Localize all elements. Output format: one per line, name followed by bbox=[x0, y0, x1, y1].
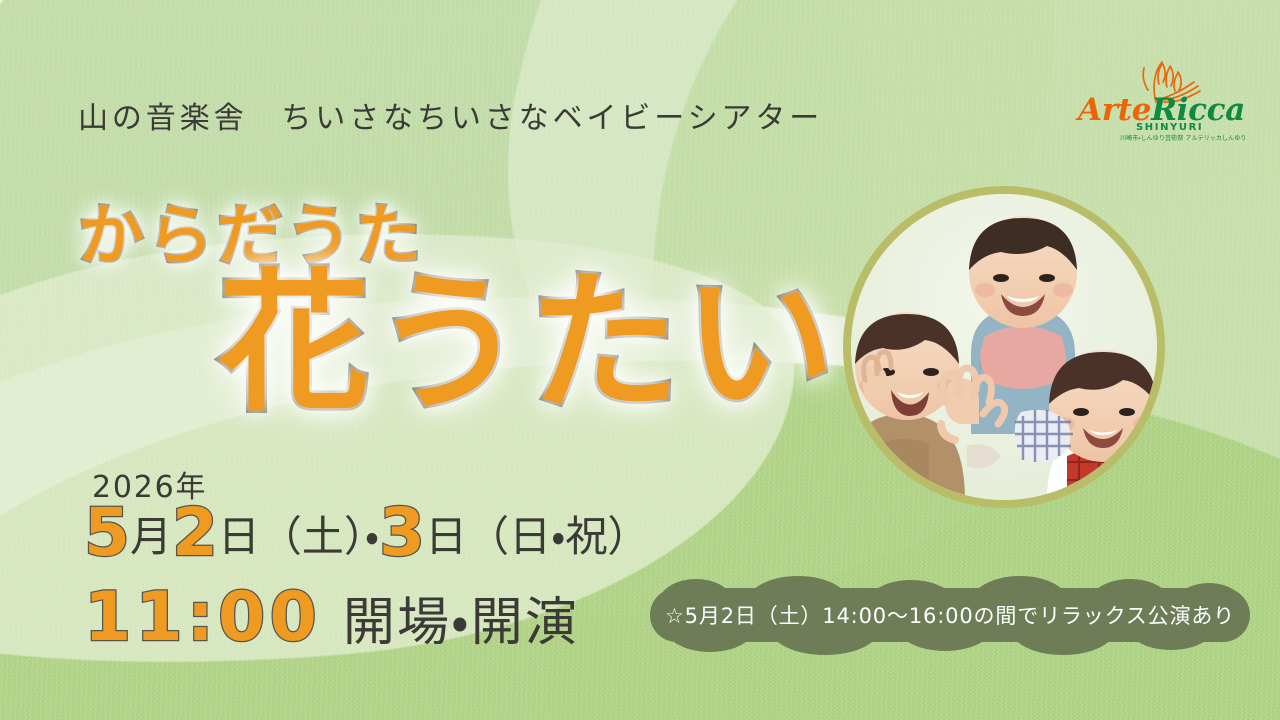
babies-illustration bbox=[851, 194, 1157, 500]
date-month-unit: 月 bbox=[130, 512, 172, 561]
date-day1-number: 2 bbox=[172, 494, 218, 571]
poster-canvas: 山の音楽舎 ちいさなちいさなベイビーシアター ArteRicca SHINYUR… bbox=[0, 0, 1280, 720]
date-day1-unit: 日（土）・ bbox=[218, 512, 379, 561]
logo-subtitle-jp: 川崎市・しんゆり芸術祭 アルテリッカしんゆり bbox=[1120, 133, 1247, 142]
arteRicca-logo: ArteRicca SHINYURI 川崎市・しんゆり芸術祭 アルテリッカしんゆ… bbox=[1078, 62, 1228, 146]
photo-circle-frame bbox=[843, 186, 1165, 508]
banner-text: ☆5月2日（土）14:00〜16:00の間でリラックス公演あり bbox=[650, 588, 1250, 642]
presenter-line: 山の音楽舎 ちいさなちいさなベイビーシアター bbox=[78, 93, 823, 137]
date-line: 5月2日（土）・3日（日・祝） bbox=[84, 500, 649, 566]
relax-performance-banner: ☆5月2日（土）14:00〜16:00の間でリラックス公演あり bbox=[650, 588, 1250, 642]
title-main: 花うたい bbox=[218, 268, 838, 420]
date-day2-unit: 日（日・祝） bbox=[425, 512, 649, 561]
time-line: 11:00開場・開演 bbox=[84, 584, 579, 652]
date-month-number: 5 bbox=[84, 494, 130, 571]
time-label: 開場・開演 bbox=[343, 593, 579, 653]
logo-subtitle: SHINYURI bbox=[1136, 122, 1203, 133]
date-day2-number: 3 bbox=[379, 494, 425, 571]
time-clock: 11:00 bbox=[84, 578, 321, 657]
babies-photo bbox=[851, 194, 1157, 500]
